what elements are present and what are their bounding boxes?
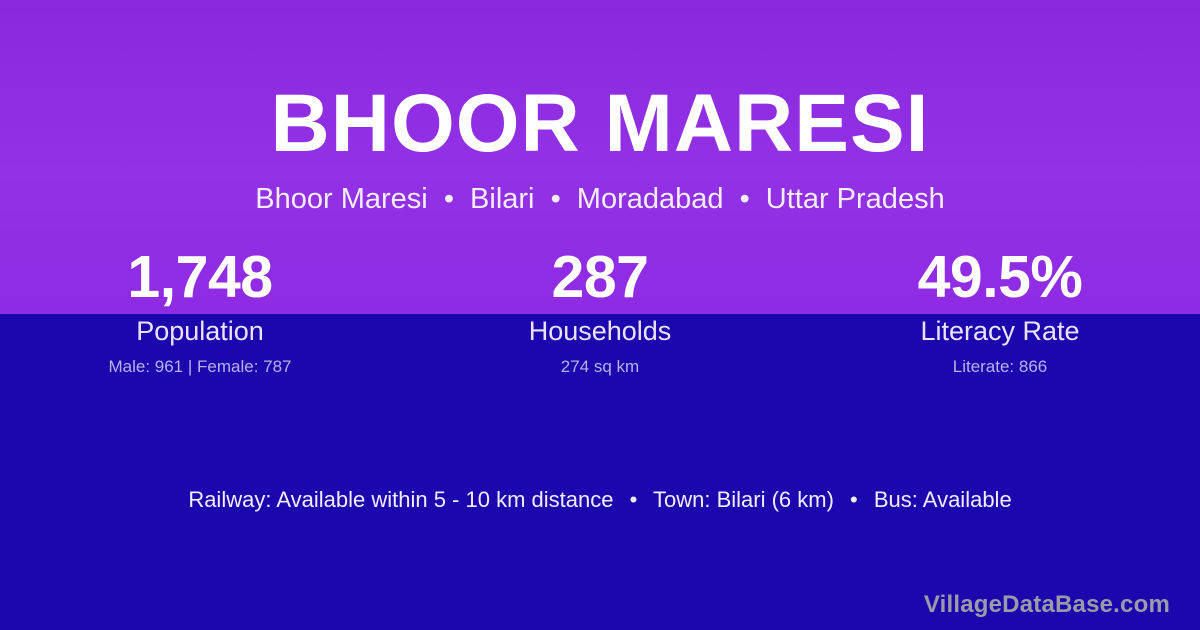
breadcrumb-district: Moradabad [577, 183, 724, 215]
stat-value: 287 [400, 248, 800, 307]
facility-separator-icon: • [620, 487, 648, 512]
stats-row: 1,748 Population Male: 961 | Female: 787… [0, 248, 1200, 376]
village-info-card: BHOOR MARESI Bhoor Maresi • Bilari • Mor… [0, 0, 1200, 630]
site-watermark: VillageDataBase.com [924, 591, 1170, 620]
breadcrumb-separator-icon: • [436, 183, 462, 215]
stat-sublabel: 274 sq km [400, 358, 800, 377]
stat-sublabel: Literate: 866 [800, 358, 1200, 377]
stat-label: Literacy Rate [800, 317, 1200, 347]
stat-label: Households [400, 317, 800, 347]
breadcrumb-separator-icon: • [543, 183, 569, 215]
stat-label: Population [0, 317, 400, 347]
breadcrumb-block: Bilari [470, 183, 534, 215]
stat-literacy-rate: 49.5% Literacy Rate Literate: 866 [800, 248, 1200, 376]
breadcrumb-separator-icon: • [732, 183, 758, 215]
stat-value: 49.5% [800, 248, 1200, 307]
facility-railway: Railway: Available within 5 - 10 km dist… [188, 487, 613, 512]
stat-households: 287 Households 274 sq km [400, 248, 800, 376]
breadcrumb-state: Uttar Pradesh [766, 183, 945, 215]
page-title: BHOOR MARESI [0, 83, 1200, 165]
stat-population: 1,748 Population Male: 961 | Female: 787 [0, 248, 400, 376]
breadcrumb: Bhoor Maresi • Bilari • Moradabad • Utta… [0, 182, 1200, 217]
facility-bus: Bus: Available [874, 487, 1012, 512]
stat-sublabel: Male: 961 | Female: 787 [0, 358, 400, 377]
facilities-line: Railway: Available within 5 - 10 km dist… [0, 486, 1200, 515]
facility-separator-icon: • [840, 487, 868, 512]
facility-town: Town: Bilari (6 km) [653, 487, 834, 512]
stat-value: 1,748 [0, 248, 400, 307]
breadcrumb-village: Bhoor Maresi [255, 183, 427, 215]
